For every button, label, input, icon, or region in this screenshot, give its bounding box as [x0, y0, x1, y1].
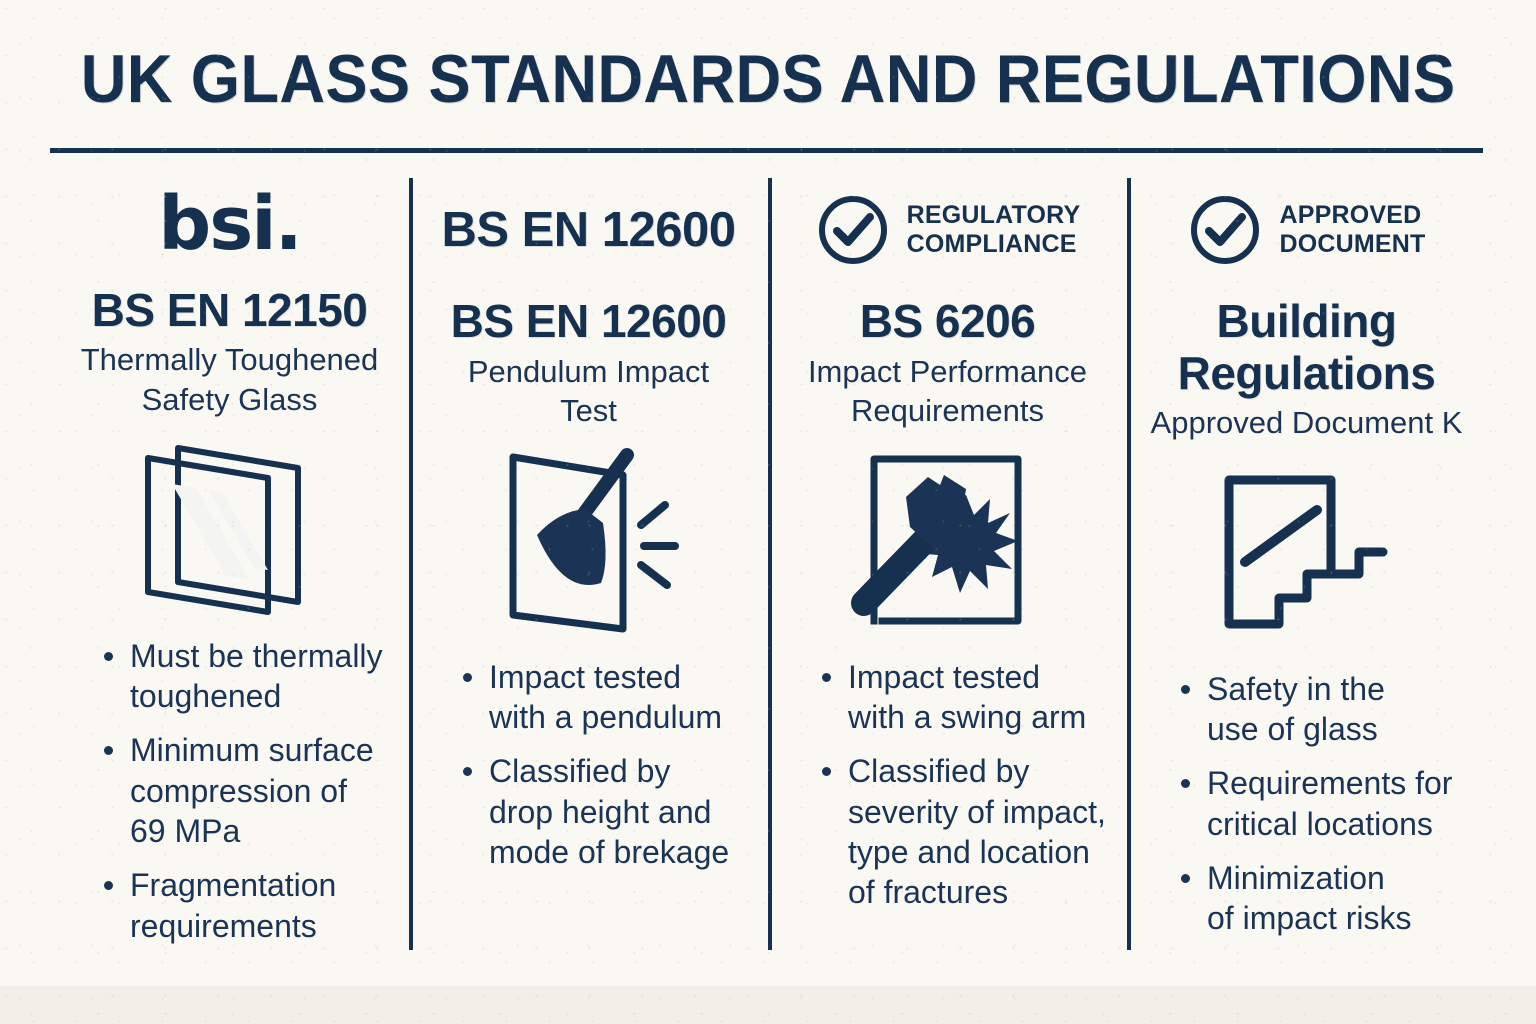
list-item: Impact tested with a swing arm: [818, 657, 1113, 738]
list-item: Minimum surface compression of 69 MPa: [100, 730, 395, 851]
bullet-list: Safety in the use of glass Requirements …: [1141, 669, 1472, 953]
check-circle-icon: [1187, 192, 1263, 268]
list-item: Impact tested with a pendulum: [459, 657, 754, 738]
standard-description: Impact Performance Requirements: [782, 352, 1113, 431]
standard-code: BS EN 12150: [64, 285, 395, 337]
standard-description: Approved Document K: [1141, 403, 1472, 443]
bullet-list: Impact tested with a pendulum Classified…: [423, 657, 754, 887]
standard-description: Thermally Toughened Safety Glass: [64, 340, 395, 419]
hammer-impact-icon: [782, 441, 1113, 641]
standards-columns: bsi. BS EN 12150 Thermally Toughened Saf…: [50, 170, 1486, 960]
badge-row: APPROVED DOCUMENT: [1141, 178, 1472, 282]
standard-badge-label: BS EN 12600: [441, 202, 735, 258]
pendulum-impact-icon: [423, 441, 754, 641]
list-item: Safety in the use of glass: [1177, 669, 1472, 750]
heading-block: BS EN 12600 Pendulum Impact Test: [423, 296, 754, 431]
bullet-list: Impact tested with a swing arm Classifie…: [782, 657, 1113, 927]
standard-description: Pendulum Impact Test: [423, 352, 754, 431]
list-item: Classified by severity of impact, type a…: [818, 751, 1113, 912]
list-item: Classified by drop height and mode of br…: [459, 751, 754, 872]
heading-block: BS 6206 Impact Performance Requirements: [782, 296, 1113, 431]
title-divider-rule: [50, 148, 1483, 153]
standard-column-building-regulations: APPROVED DOCUMENT Building Regulations A…: [1127, 170, 1486, 960]
heading-block: BS EN 12150 Thermally Toughened Safety G…: [64, 285, 395, 420]
list-item: Minimization of impact risks: [1177, 858, 1472, 939]
list-item: Fragmentation requirements: [100, 865, 395, 946]
badge-label: APPROVED DOCUMENT: [1279, 201, 1425, 260]
standard-column-bs-en-12600: BS EN 12600 BS EN 12600 Pendulum Impact …: [409, 170, 768, 960]
standard-code: BS 6206: [782, 296, 1113, 348]
badge-row: REGULATORY COMPLIANCE: [782, 178, 1113, 282]
heading-block: Building Regulations Approved Document K: [1141, 296, 1472, 443]
glass-balustrade-stairs-icon: [1141, 453, 1472, 653]
bullet-list: Must be thermally toughened Minimum surf…: [64, 636, 395, 960]
check-circle-icon: [815, 192, 891, 268]
badge-label: REGULATORY COMPLIANCE: [907, 201, 1081, 260]
badge-row: BS EN 12600: [423, 178, 754, 282]
standard-column-bs-6206: REGULATORY COMPLIANCE BS 6206 Impact Per…: [768, 170, 1127, 960]
list-item: Requirements for critical locations: [1177, 763, 1472, 844]
standard-code: Building Regulations: [1141, 296, 1472, 399]
glass-panes-icon: [64, 430, 395, 620]
title-zone: UK GLASS STANDARDS AND REGULATIONS: [0, 36, 1536, 122]
page-title: UK GLASS STANDARDS AND REGULATIONS: [81, 45, 1456, 113]
list-item: Must be thermally toughened: [100, 636, 395, 717]
standard-code: BS EN 12600: [423, 296, 754, 348]
infographic-poster: UK GLASS STANDARDS AND REGULATIONS bsi. …: [0, 0, 1536, 1024]
badge-row: bsi.: [64, 178, 395, 271]
standard-column-bs-en-12150: bsi. BS EN 12150 Thermally Toughened Saf…: [50, 170, 409, 960]
bsi-logo: bsi.: [158, 191, 301, 258]
